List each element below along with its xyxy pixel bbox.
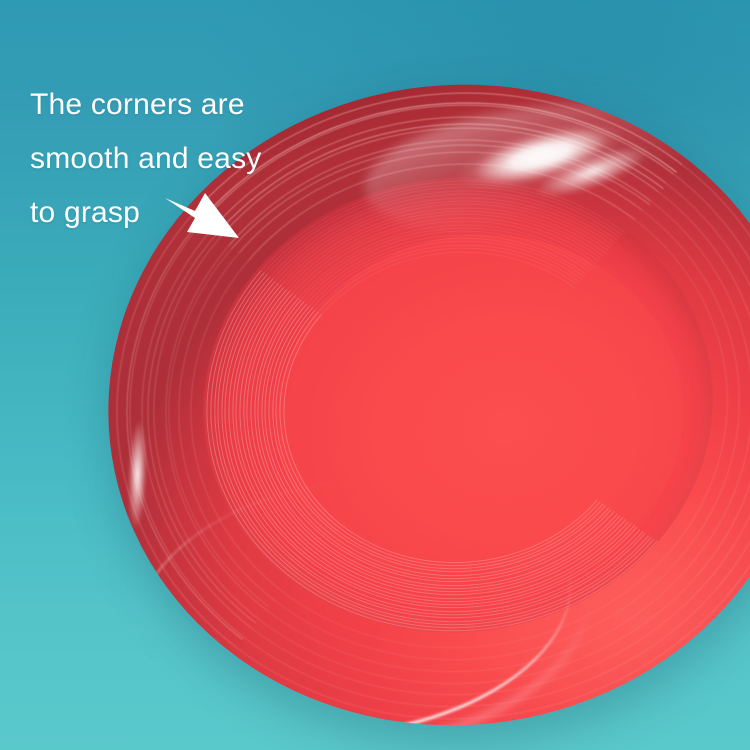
arrow-down-right-icon — [165, 188, 241, 244]
product-photo-scene: The corners are smooth and easy to grasp — [0, 0, 750, 750]
caption-line-2: smooth and easy — [30, 132, 360, 186]
caption-line-1: The corners are — [30, 78, 360, 132]
